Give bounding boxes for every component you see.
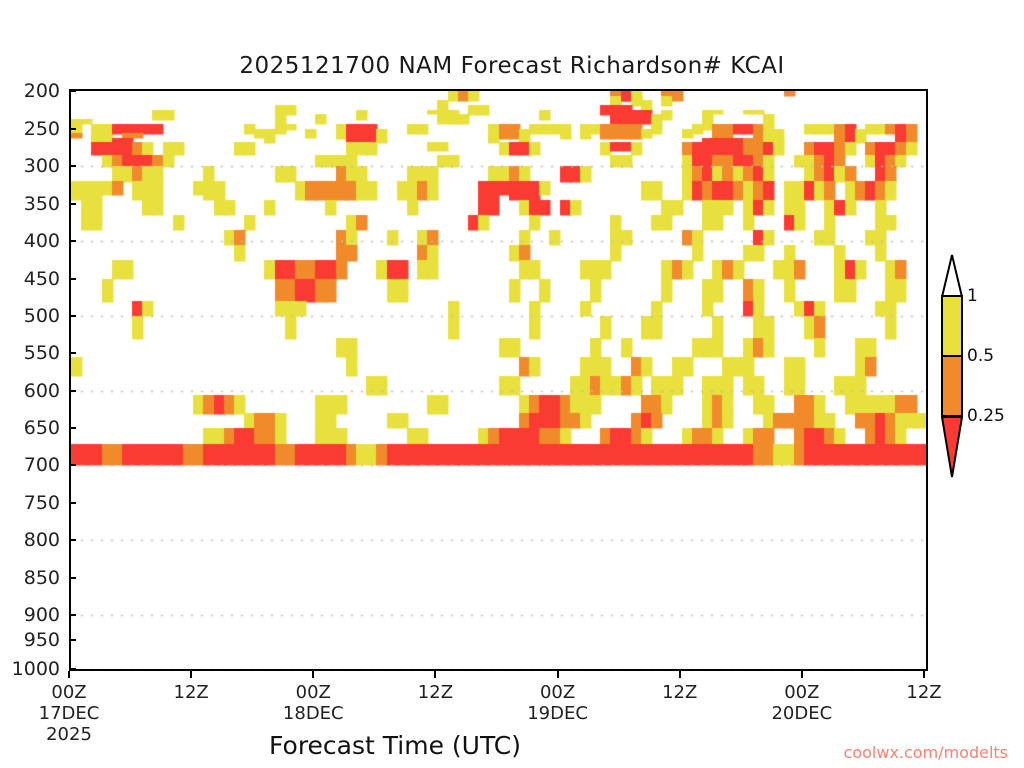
x-axis-tick-label: 12Z: [906, 682, 941, 703]
x-axis-tick: [557, 671, 559, 678]
y-axis-tick-label: 600: [24, 380, 60, 402]
y-axis-tick: [69, 464, 76, 466]
gridlines-canvas: [71, 91, 926, 669]
y-axis-tick: [69, 639, 76, 641]
y-axis-tick-label: 200: [24, 80, 60, 102]
x-axis-tick-label-time: 12Z: [906, 682, 941, 703]
y-axis-tick: [69, 165, 76, 167]
chart-page: 2025121700 NAM Forecast Richardson# KCAI…: [0, 0, 1024, 768]
y-axis-tick: [69, 128, 76, 130]
colorbar-arrow-below-0.25: [941, 416, 963, 482]
y-axis-tick-label: 700: [24, 454, 60, 476]
y-axis-tick: [69, 390, 76, 392]
x-axis-tick: [801, 671, 803, 678]
y-axis-tick: [69, 614, 76, 616]
y-axis-tick: [69, 240, 76, 242]
colorbar-tick: [941, 295, 963, 297]
y-axis-tick: [69, 352, 76, 354]
y-axis-tick: [69, 668, 76, 670]
x-axis-tick: [190, 671, 192, 678]
y-axis-tick-label: 300: [24, 155, 60, 177]
colorbar-label: 0.5: [967, 346, 994, 366]
x-axis-tick-label: 00Z20DEC: [771, 682, 832, 724]
y-axis-labels: 2002503003504004505005506006507007508008…: [0, 89, 60, 671]
plot-area: [69, 89, 928, 671]
y-axis-tick-label: 800: [24, 529, 60, 551]
watermark-link[interactable]: coolwx.com/modelts: [844, 743, 1008, 762]
y-axis-tick: [69, 90, 76, 92]
y-axis-tick-label: 900: [24, 604, 60, 626]
colorbar-label: 0.25: [967, 406, 1005, 426]
x-axis-tick-label: 12Z: [662, 682, 697, 703]
x-axis-tick: [679, 671, 681, 678]
y-axis-tick: [69, 539, 76, 541]
x-axis-tick-label-time: 12Z: [662, 682, 697, 703]
chart-title: 2025121700 NAM Forecast Richardson# KCAI: [0, 53, 1024, 79]
x-axis-tick: [434, 671, 436, 678]
plot-clip: [71, 91, 926, 669]
y-axis-tick-label: 650: [24, 417, 60, 439]
y-axis-tick: [69, 427, 76, 429]
y-axis-tick-label: 400: [24, 230, 60, 252]
x-axis-tick-label-time: 00Z: [283, 682, 344, 703]
y-axis-tick: [69, 278, 76, 280]
x-axis-tick: [923, 671, 925, 678]
y-axis-tick-label: 250: [24, 118, 60, 140]
y-axis-tick-label: 500: [24, 305, 60, 327]
x-axis-tick-label-time: 00Z: [39, 682, 100, 703]
x-axis-tick: [68, 671, 70, 678]
x-axis-tick-label: 12Z: [418, 682, 453, 703]
x-axis-tick-label: 00Z18DEC: [283, 682, 344, 724]
x-axis-tick-label: 00Z19DEC: [527, 682, 588, 724]
y-axis-tick: [69, 315, 76, 317]
y-axis-tick-label: 850: [24, 567, 60, 589]
colorbar-label: 1: [967, 286, 978, 306]
x-axis-ticks: [0, 671, 1024, 681]
x-axis-tick-label-date: 17DEC: [39, 703, 100, 724]
x-axis-tick-label: 12Z: [174, 682, 209, 703]
x-axis-tick-label-date: 19DEC: [527, 703, 588, 724]
colorbar-legend: 10.50.25: [941, 296, 963, 476]
colorbar-band-0.5-to-1: [941, 296, 963, 356]
y-axis-tick-label: 350: [24, 193, 60, 215]
x-axis-tick-label-date: 18DEC: [283, 703, 344, 724]
colorbar-tick: [941, 415, 963, 417]
y-axis-tick-label: 950: [24, 629, 60, 651]
y-axis-tick: [69, 203, 76, 205]
x-axis-tick-label-time: 00Z: [771, 682, 832, 703]
x-axis-title: Forecast Time (UTC): [0, 731, 790, 760]
y-axis-tick: [69, 502, 76, 504]
y-axis-tick-label: 750: [24, 492, 60, 514]
y-axis-tick-label: 450: [24, 268, 60, 290]
x-axis-tick-label-time: 12Z: [174, 682, 209, 703]
x-axis-tick-label-time: 12Z: [418, 682, 453, 703]
colorbar-tick: [941, 355, 963, 357]
colorbar-band-0.25-to-0.5: [941, 356, 963, 416]
y-axis-tick: [69, 577, 76, 579]
y-axis-tick-label: 550: [24, 342, 60, 364]
x-axis-tick-label-time: 00Z: [527, 682, 588, 703]
x-axis-tick: [312, 671, 314, 678]
x-axis-tick-label-date: 20DEC: [771, 703, 832, 724]
